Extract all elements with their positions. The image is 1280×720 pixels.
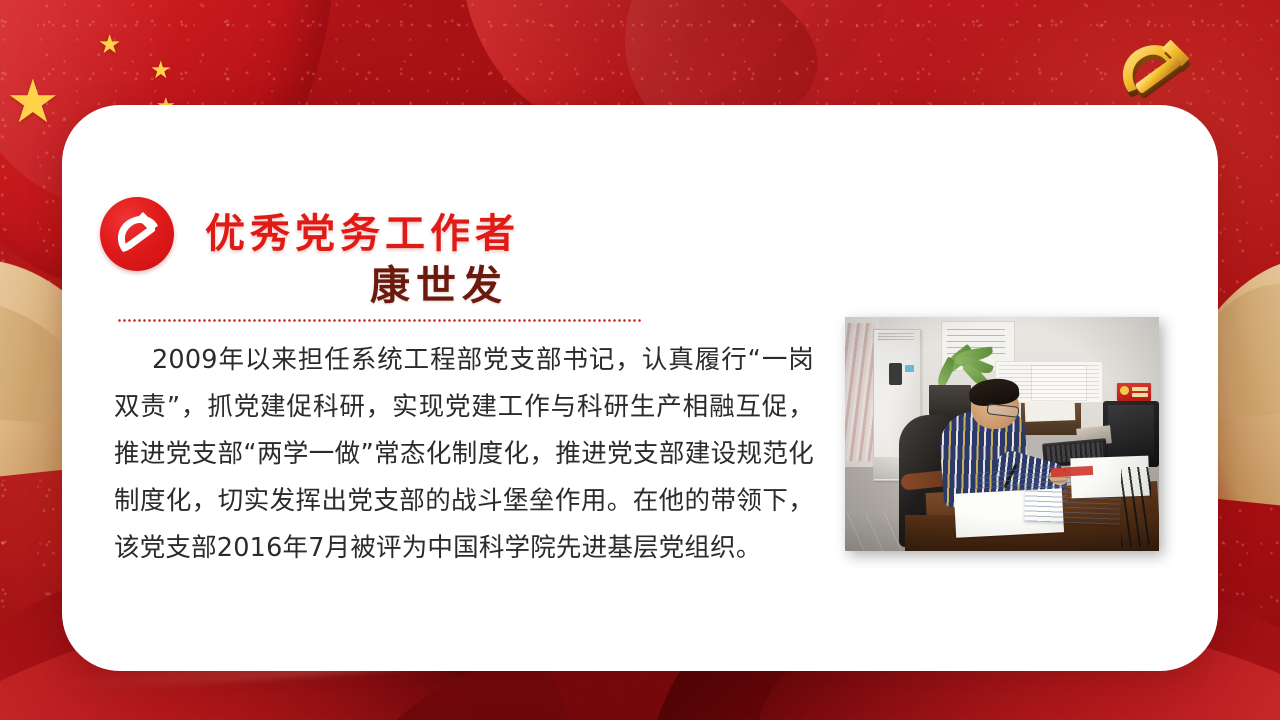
portrait-photo [845,317,1159,551]
flag-star: ★ [6,72,60,132]
content-card: 优秀党务工作者 康世发 2009年以来担任系统工程部党支部书记，认真履行“一岗双… [62,105,1218,671]
photo-vignette [845,317,1159,551]
person-name: 康世发 [370,253,508,311]
dotted-divider [117,319,642,322]
biography-paragraph: 2009年以来担任系统工程部党支部书记，认真履行“一岗双责”，抓党建促科研，实现… [114,345,814,563]
flag-star: ★ [150,58,172,82]
party-hammer-sickle-icon [100,197,174,271]
slide-root: ★★★★★ [0,0,1280,720]
flag-star: ★ [98,32,121,58]
gold-hammer-sickle-icon [1104,26,1214,110]
card-header: 优秀党务工作者 康世发 [100,195,860,315]
biography-text: 2009年以来担任系统工程部党支部书记，认真履行“一岗双责”，抓党建促科研，实现… [114,337,814,572]
page-title: 优秀党务工作者 [205,201,520,259]
